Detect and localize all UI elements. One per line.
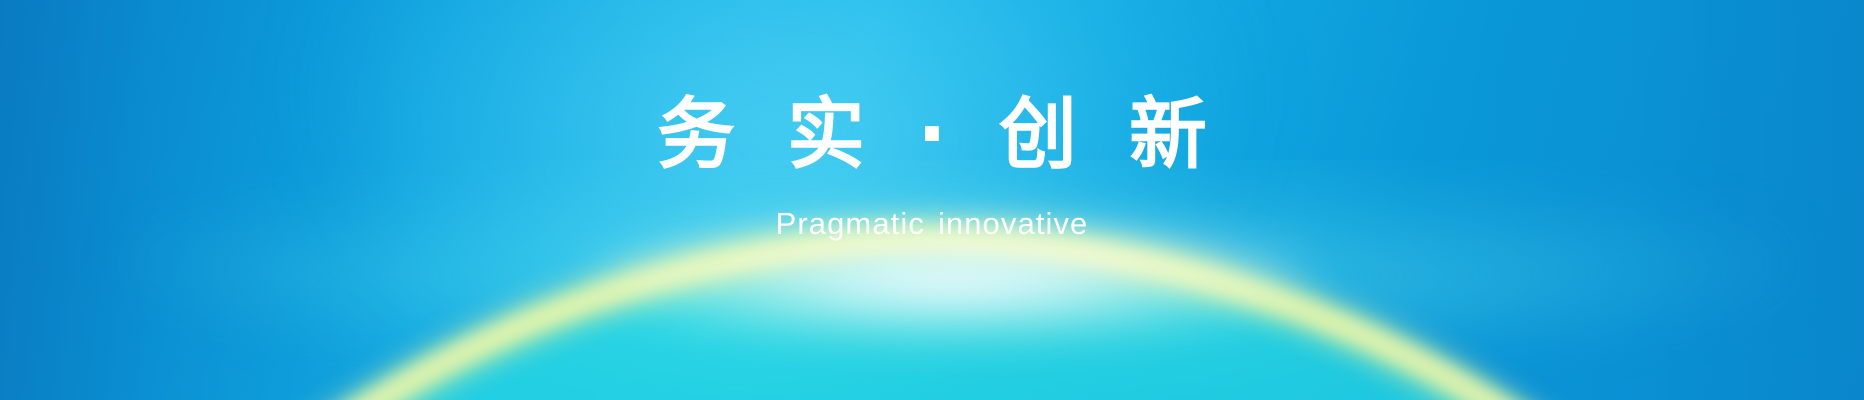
hero-banner: 务 实 · 创 新 Pragmaticinnovative xyxy=(0,0,1864,400)
banner-headline: 务 实 · 创 新 xyxy=(644,96,1219,174)
banner-content: 务 实 · 创 新 Pragmaticinnovative xyxy=(0,0,1864,400)
banner-subtitle-word-1: Pragmatic xyxy=(776,206,925,241)
banner-subtitle-word-2: innovative xyxy=(938,206,1088,241)
banner-subtitle: Pragmaticinnovative xyxy=(776,206,1089,242)
